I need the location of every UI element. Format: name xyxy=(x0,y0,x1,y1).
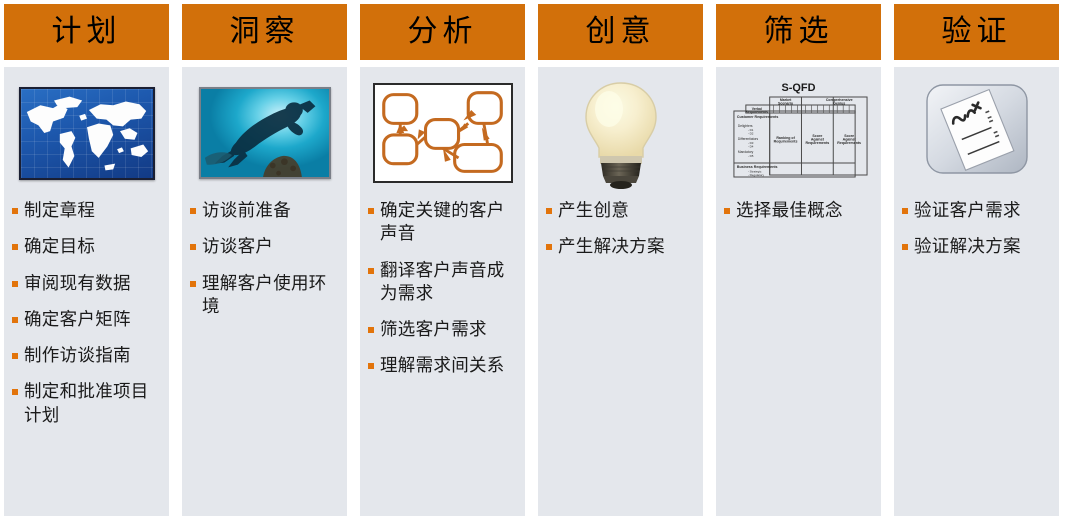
bullet-item: 翻译客户声音成为需求 xyxy=(368,259,517,306)
stage-body-ideate: 产生创意 产生解决方案 xyxy=(538,67,703,516)
bullet-item: 访谈前准备 xyxy=(190,199,339,222)
bullet-marker-icon xyxy=(368,208,374,214)
bullet-text: 制作访谈指南 xyxy=(24,344,131,367)
svg-text:Requirements: Requirements xyxy=(746,110,769,114)
stage-column-validate: 验证 xyxy=(894,4,1059,522)
bullet-item: 确定关键的客户声音 xyxy=(368,199,517,246)
bullet-marker-icon xyxy=(12,208,18,214)
bullet-item: 确定客户矩阵 xyxy=(12,308,161,331)
process-stage-board: 计划 xyxy=(0,0,1091,522)
stage-column-select: 筛选 S-QFD xyxy=(716,4,881,522)
bullet-marker-icon xyxy=(190,244,196,250)
thumbnail-wrap xyxy=(12,77,161,189)
bullet-text: 产生解决方案 xyxy=(558,235,665,258)
stage-title-insight: 洞察 xyxy=(182,4,347,60)
survey-document-image xyxy=(921,81,1033,185)
bullet-marker-icon xyxy=(546,244,552,250)
bullet-marker-icon xyxy=(12,353,18,359)
svg-text:Business Requirements: Business Requirements xyxy=(737,165,778,169)
bullet-list-ideate: 产生创意 产生解决方案 xyxy=(546,199,695,259)
bullet-marker-icon xyxy=(190,208,196,214)
bullet-marker-icon xyxy=(12,389,18,395)
bullet-item: 制作访谈指南 xyxy=(12,344,161,367)
bullet-text: 制定章程 xyxy=(24,199,95,222)
stage-column-insight: 洞察 xyxy=(182,4,347,522)
bullet-list-select: 选择最佳概念 xyxy=(724,199,873,222)
bullet-marker-icon xyxy=(724,208,730,214)
bullet-item: 制定和批准项目计划 xyxy=(12,380,161,427)
bullet-item: 验证客户需求 xyxy=(902,199,1051,222)
bullet-list-plan: 制定章程 确定目标 审阅现有数据 确定客户矩阵 制作访谈指南 制定和批准项目计划 xyxy=(12,199,161,427)
bullet-text: 筛选客户需求 xyxy=(380,318,487,341)
bullet-text: 理解需求间关系 xyxy=(380,354,505,377)
flow-diagram-image xyxy=(373,83,513,183)
bullet-item: 筛选客户需求 xyxy=(368,318,517,341)
bullet-item: 产生创意 xyxy=(546,199,695,222)
bullet-marker-icon xyxy=(190,281,196,287)
bullet-marker-icon xyxy=(12,317,18,323)
scuba-diver-image xyxy=(199,87,331,179)
bullet-text: 访谈前准备 xyxy=(202,199,291,222)
bullet-text: 审阅现有数据 xyxy=(24,272,131,295)
thumbnail-wrap xyxy=(546,77,695,189)
bullet-list-insight: 访谈前准备 访谈客户 理解客户使用环境 xyxy=(190,199,339,318)
stage-title-ideate: 创意 xyxy=(538,4,703,60)
thumbnail-wrap: S-QFD xyxy=(724,77,873,189)
stage-column-analyze: 分析 xyxy=(360,4,525,522)
stage-title-validate: 验证 xyxy=(894,4,1059,60)
stage-body-analyze: 确定关键的客户声音 翻译客户声音成为需求 筛选客户需求 理解需求间关系 xyxy=(360,67,525,516)
bullet-text: 验证解决方案 xyxy=(914,235,1021,258)
bullet-text: 选择最佳概念 xyxy=(736,199,843,222)
bullet-marker-icon xyxy=(902,208,908,214)
stage-title-plan: 计划 xyxy=(4,4,169,60)
bullet-item: 访谈客户 xyxy=(190,235,339,258)
svg-text:Scenario: Scenario xyxy=(778,102,794,106)
bullet-item: 选择最佳概念 xyxy=(724,199,873,222)
bullet-marker-icon xyxy=(368,327,374,333)
bullet-text: 确定目标 xyxy=(24,235,95,258)
bullet-marker-icon xyxy=(368,268,374,274)
bullet-text: 验证客户需求 xyxy=(914,199,1021,222)
bullet-item: 理解需求间关系 xyxy=(368,354,517,377)
stage-body-plan: 制定章程 确定目标 审阅现有数据 确定客户矩阵 制作访谈指南 制定和批准项目计划 xyxy=(4,67,169,516)
bullet-item: 确定目标 xyxy=(12,235,161,258)
svg-text:S-QFD: S-QFD xyxy=(782,82,816,94)
bullet-marker-icon xyxy=(12,281,18,287)
stage-column-plan: 计划 xyxy=(4,4,169,522)
bullet-text: 翻译客户声音成为需求 xyxy=(380,259,517,306)
world-map-image xyxy=(19,87,155,180)
bullet-item: 验证解决方案 xyxy=(902,235,1051,258)
bullet-marker-icon xyxy=(546,208,552,214)
thumbnail-wrap xyxy=(190,77,339,189)
thumbnail-wrap xyxy=(368,77,517,189)
bullet-marker-icon xyxy=(902,244,908,250)
svg-text:Requirements: Requirements xyxy=(805,141,829,145)
bullet-marker-icon xyxy=(12,244,18,250)
bullet-marker-icon xyxy=(368,363,374,369)
svg-text:Requirements: Requirements xyxy=(837,141,861,145)
thumbnail-wrap xyxy=(902,77,1051,189)
bullet-text: 访谈客户 xyxy=(202,235,273,258)
bullet-text: 理解客户使用环境 xyxy=(202,272,339,319)
sqfd-matrix-image: S-QFD xyxy=(724,77,873,189)
stage-column-ideate: 创意 xyxy=(538,4,703,522)
svg-text:Genius: Genius xyxy=(833,102,845,106)
bullet-text: 产生创意 xyxy=(558,199,629,222)
stage-body-validate: 验证客户需求 验证解决方案 xyxy=(894,67,1059,516)
bullet-item: 理解客户使用环境 xyxy=(190,272,339,319)
svg-text:- D2: - D2 xyxy=(748,131,754,135)
bullet-item: 制定章程 xyxy=(12,199,161,222)
bullet-item: 审阅现有数据 xyxy=(12,272,161,295)
svg-text:Requirements: Requirements xyxy=(774,140,798,144)
bullet-text: 确定客户矩阵 xyxy=(24,308,131,331)
bullet-list-analyze: 确定关键的客户声音 翻译客户声音成为需求 筛选客户需求 理解需求间关系 xyxy=(368,199,517,378)
bullet-list-validate: 验证客户需求 验证解决方案 xyxy=(902,199,1051,259)
bullet-text: 制定和批准项目计划 xyxy=(24,380,161,427)
svg-text:- Regulatory: - Regulatory xyxy=(748,173,765,177)
stage-body-select: S-QFD xyxy=(716,67,881,516)
stage-title-select: 筛选 xyxy=(716,4,881,60)
stage-title-analyze: 分析 xyxy=(360,4,525,60)
bullet-text: 确定关键的客户声音 xyxy=(380,199,517,246)
bullet-item: 产生解决方案 xyxy=(546,235,695,258)
svg-text:- D4: - D4 xyxy=(748,144,754,148)
svg-text:- D5: - D5 xyxy=(748,154,754,158)
svg-text:Customer Requirements: Customer Requirements xyxy=(737,115,778,119)
lightbulb-image xyxy=(561,77,681,189)
stage-body-insight: 访谈前准备 访谈客户 理解客户使用环境 xyxy=(182,67,347,516)
